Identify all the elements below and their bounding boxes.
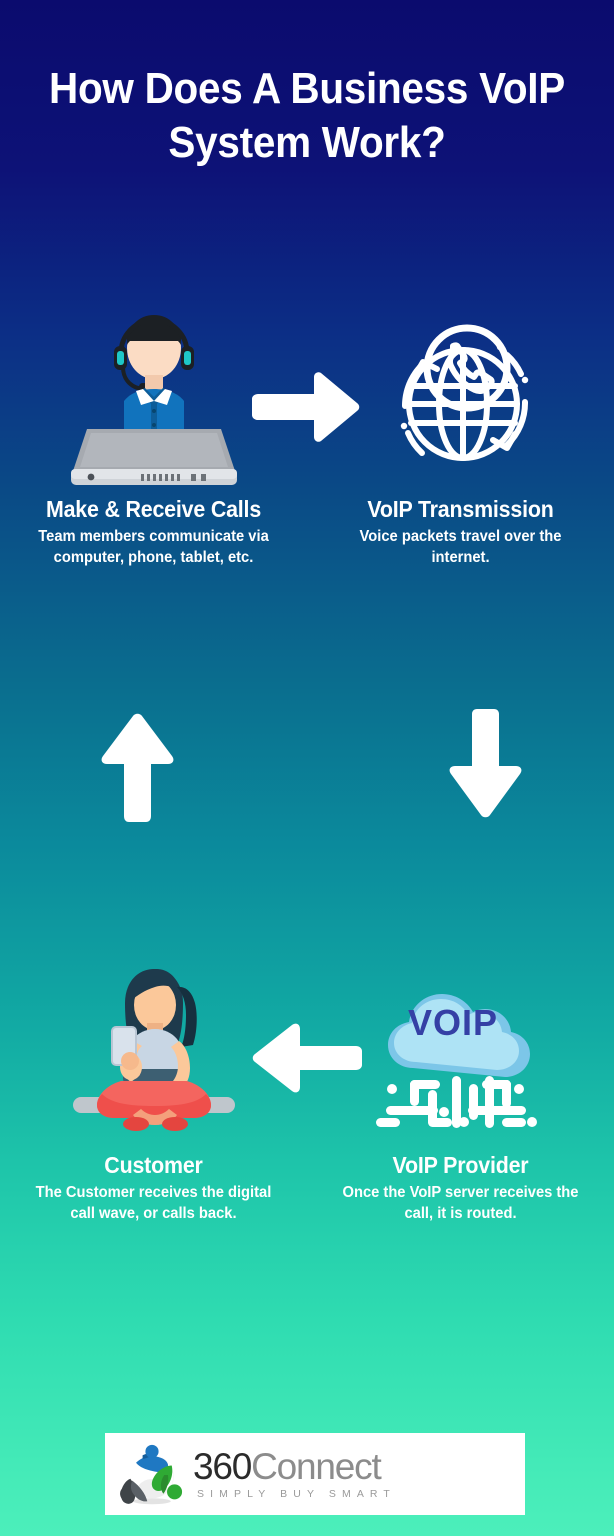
infographic-canvas: How Does A Business VoIP System Work? [0, 0, 614, 1536]
360connect-logo-mark [119, 1443, 185, 1505]
cloud-voip-label: VOIP [408, 1002, 498, 1043]
arrow-right-icon [252, 372, 360, 447]
arrow-down-icon [448, 708, 534, 828]
logo-brand-primary: 360 [193, 1446, 251, 1487]
logo-brand-secondary: Connect [251, 1446, 380, 1487]
logo-tagline: SIMPLY BUY SMART [197, 1488, 396, 1500]
step-description: Voice packets travel over the internet. [315, 527, 607, 569]
logo-wordmark: 360Connect [193, 1448, 396, 1485]
arrow-left-icon [250, 1022, 362, 1099]
step-description: Team members communicate via computer, p… [8, 527, 300, 569]
step-description: Once the VoIP server receives the call, … [315, 1183, 607, 1225]
step-description: The Customer receives the digital call w… [8, 1183, 300, 1225]
brand-logo[interactable]: 360Connect SIMPLY BUY SMART [105, 1433, 525, 1515]
step-heading: Customer [11, 1152, 297, 1178]
step-heading: Make & Receive Calls [11, 496, 297, 522]
step-heading: VoIP Transmission [318, 496, 604, 522]
step-heading: VoIP Provider [318, 1152, 604, 1178]
arrow-up-icon [100, 712, 186, 827]
page-title: How Does A Business VoIP System Work? [25, 62, 590, 169]
